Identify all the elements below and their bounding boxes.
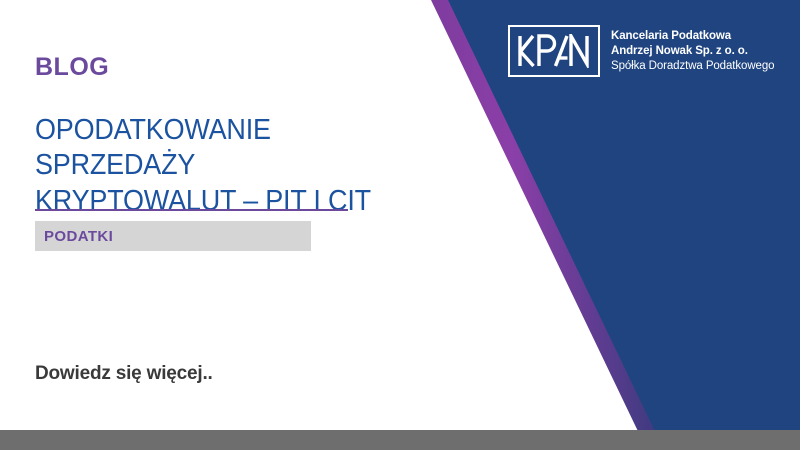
- content-column: BLOG OPODATKOWANIE SPRZEDAŻY KRYPTOWALUT…: [35, 0, 455, 450]
- brand-line-3: Spółka Doradztwa Podatkowego: [611, 59, 774, 74]
- category-badge[interactable]: PODATKI: [35, 221, 311, 251]
- blog-banner: BLOG OPODATKOWANIE SPRZEDAŻY KRYPTOWALUT…: [0, 0, 800, 450]
- brand-line-1: Kancelaria Podatkowa: [611, 29, 774, 44]
- brand-logo-text: Kancelaria Podatkowa Andrzej Nowak Sp. z…: [611, 28, 774, 75]
- category-badge-label: PODATKI: [44, 228, 113, 245]
- brand-line-2: Andrzej Nowak Sp. z o. o.: [611, 44, 774, 59]
- read-more-link[interactable]: Dowiedz się więcej..: [35, 363, 213, 385]
- page-title: OPODATKOWANIE SPRZEDAŻY KRYPTOWALUT – PI…: [35, 113, 435, 219]
- eyebrow-label: BLOG: [35, 55, 109, 80]
- kpan-logo-icon: [508, 25, 600, 77]
- brand-logo[interactable]: Kancelaria Podatkowa Andrzej Nowak Sp. z…: [508, 25, 774, 77]
- title-divider: [35, 209, 348, 211]
